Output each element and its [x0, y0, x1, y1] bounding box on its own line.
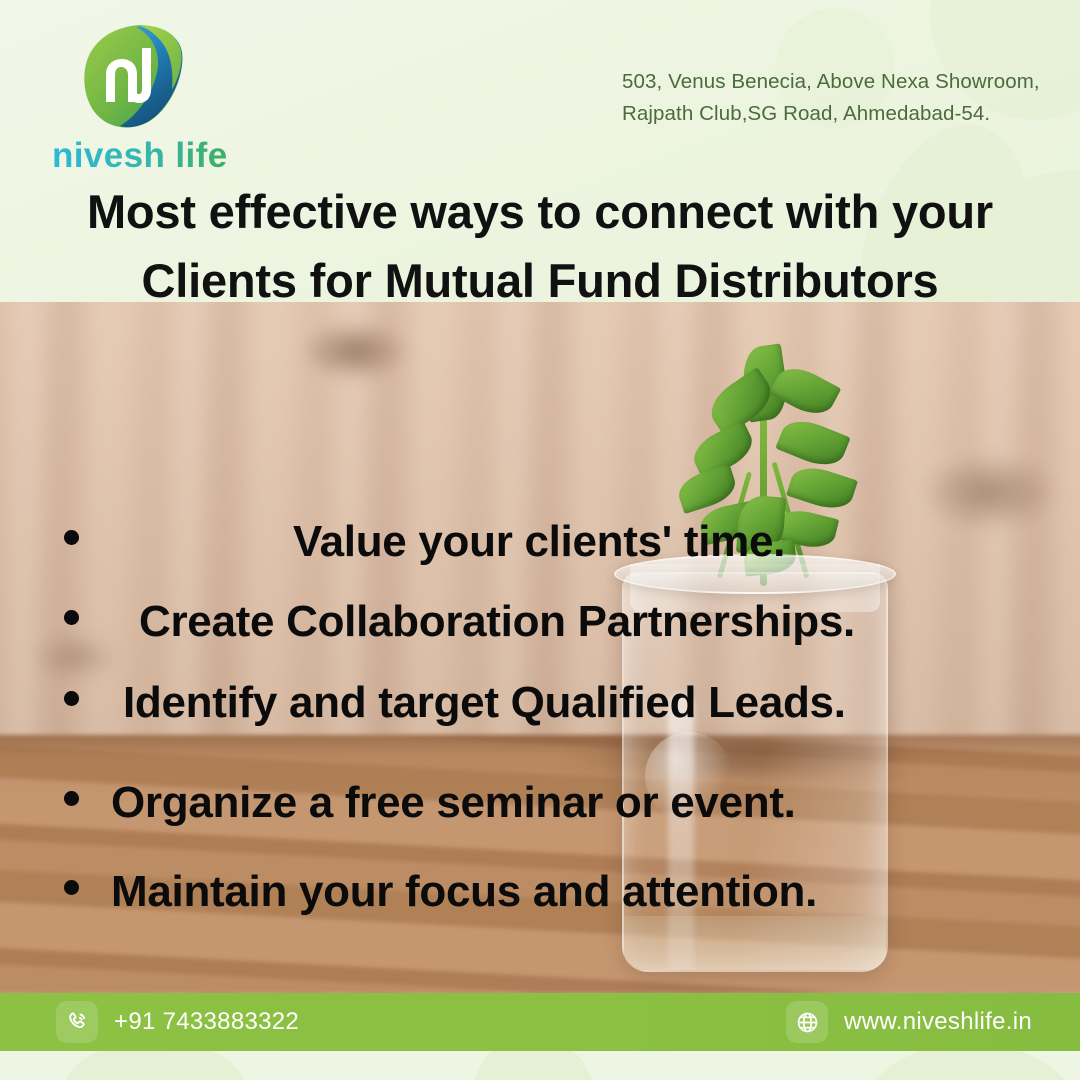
phone-number: +91 7433883322: [114, 1008, 299, 1036]
list-item: Value your clients' time.: [64, 518, 1062, 566]
header: nivesh life 503, Venus Benecia, Above Ne…: [0, 0, 1080, 302]
brand-wordmark: nivesh life: [52, 138, 296, 173]
list-item: Create Collaboration Partnerships.: [64, 598, 1062, 646]
list-item-label: Value your clients' time.: [293, 518, 785, 566]
bullet-dot-icon: [64, 610, 79, 625]
company-address: 503, Venus Benecia, Above Nexa Showroom,…: [622, 66, 1042, 130]
list-item-label: Create Collaboration Partnerships.: [139, 598, 855, 646]
list-item: Maintain your focus and attention.: [64, 868, 1062, 916]
address-line-1: 503, Venus Benecia, Above Nexa Showroom,: [622, 66, 1042, 98]
list-item: Organize a free seminar or event.: [64, 779, 1062, 827]
nl-monogram-logo-icon: [78, 22, 186, 134]
poster: nivesh life 503, Venus Benecia, Above Ne…: [0, 0, 1080, 1080]
globe-icon: [786, 1001, 828, 1043]
list-item: Identify and target Qualified Leads.: [64, 679, 1062, 727]
list-item-label: Maintain your focus and attention.: [111, 868, 817, 916]
list-item-label: Identify and target Qualified Leads.: [123, 679, 846, 727]
bullet-dot-icon: [64, 691, 79, 706]
phone-call-icon: [56, 1001, 98, 1043]
address-line-2: Rajpath Club,SG Road, Ahmedabad-54.: [622, 98, 1042, 130]
contact-footer-bar: +91 7433883322 www.niveshlife.in: [0, 993, 1080, 1051]
bullet-dot-icon: [64, 791, 79, 806]
website-contact[interactable]: www.niveshlife.in: [786, 993, 1032, 1051]
brand-logo: nivesh life: [46, 22, 296, 173]
bullet-list: Value your clients' time. Create Collabo…: [0, 302, 1080, 993]
phone-contact[interactable]: +91 7433883322: [56, 993, 299, 1051]
page-headline: Most effective ways to connect with your…: [0, 178, 1080, 302]
website-url: www.niveshlife.in: [844, 1008, 1032, 1036]
bullet-dot-icon: [64, 880, 79, 895]
bullet-dot-icon: [64, 530, 79, 545]
list-item-label: Organize a free seminar or event.: [111, 779, 796, 827]
